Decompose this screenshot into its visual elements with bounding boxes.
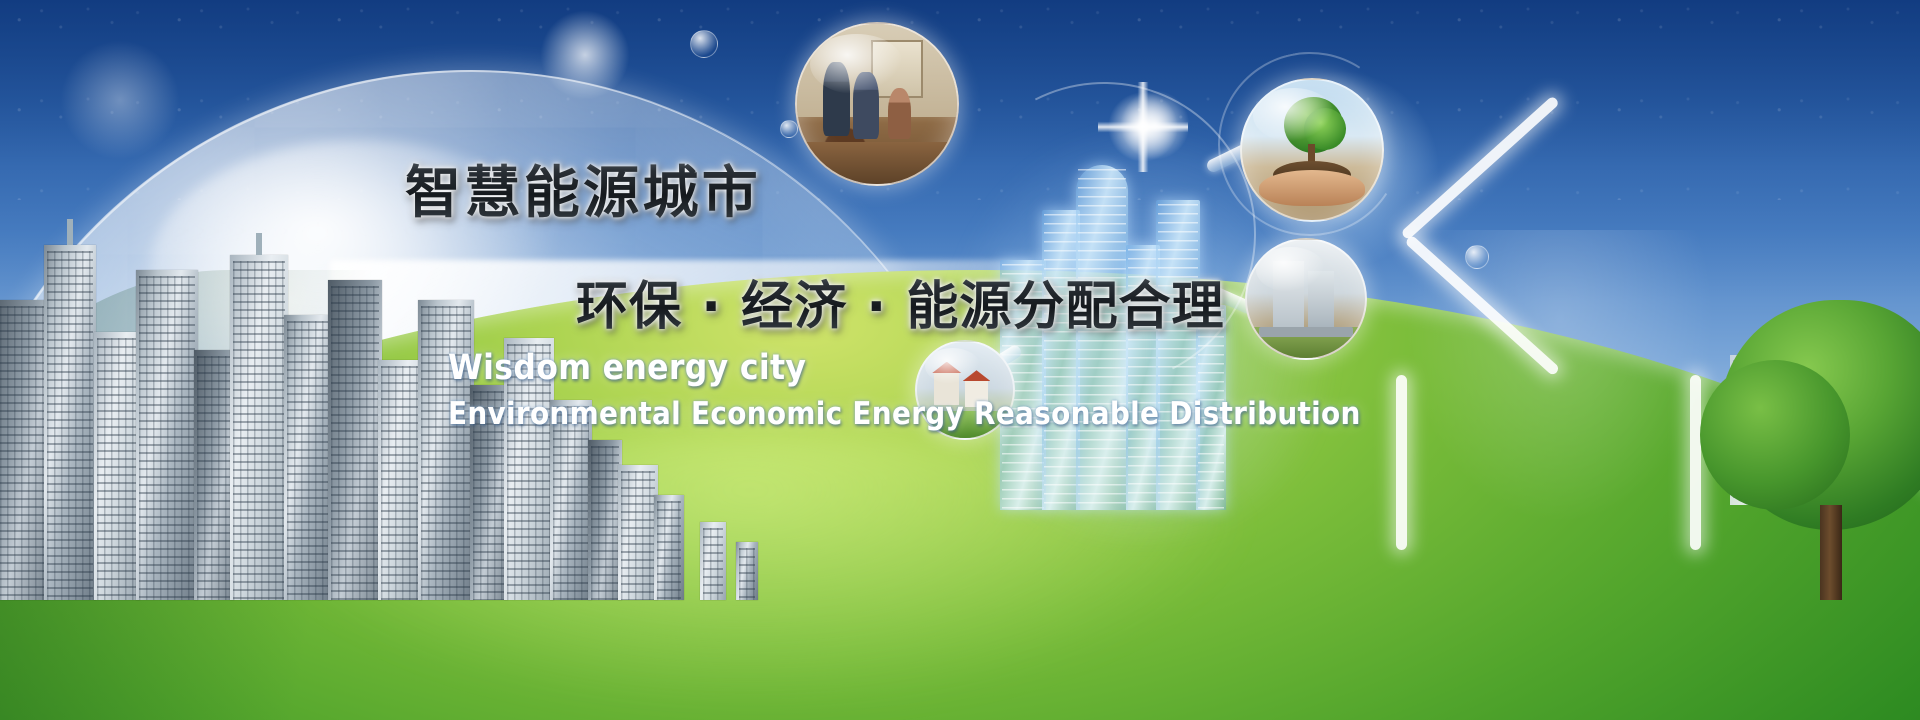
tagline-english-primary: Wisdom energy city [448, 348, 806, 388]
headline-cjk: 智慧能源城市 [405, 148, 761, 229]
tagline-english-secondary: Environmental Economic Energy Reasonable… [448, 396, 1361, 432]
copy-block: 智慧能源城市 环保 · 经济 · 能源分配合理 Wisdom energy ci… [0, 0, 1920, 720]
subhead-cjk: 环保 · 经济 · 能源分配合理 [576, 264, 1225, 339]
banner-root: 智慧能源城市 环保 · 经济 · 能源分配合理 Wisdom energy ci… [0, 0, 1920, 720]
